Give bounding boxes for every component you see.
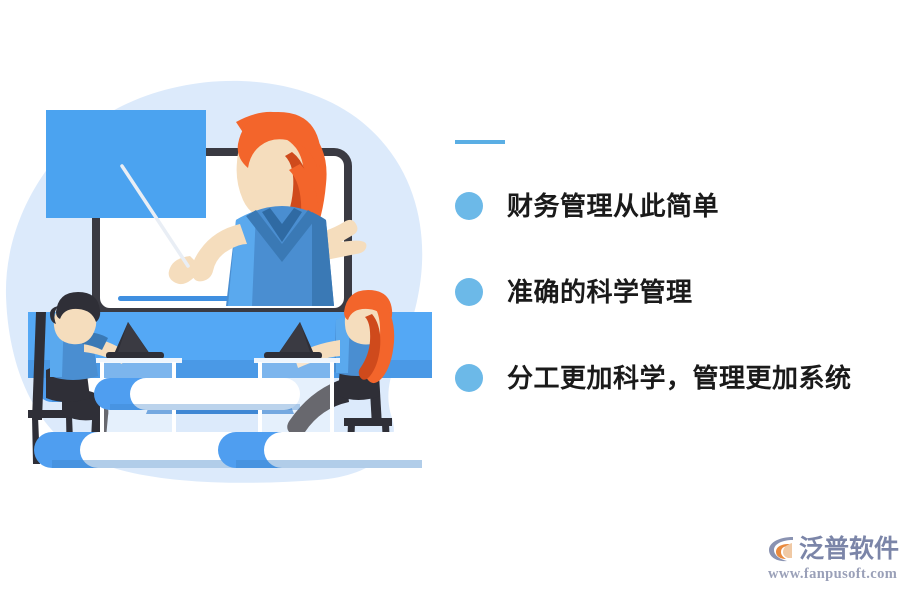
bullet-label: 财务管理从此简单 (507, 193, 719, 219)
bullet-label: 准确的科学管理 (507, 279, 693, 305)
list-item: 财务管理从此简单 (455, 192, 719, 220)
bullet-dot-icon (455, 364, 483, 392)
bullet-dot-icon (455, 192, 483, 220)
online-classroom-illustration (0, 60, 460, 500)
fanpu-swoosh-icon (766, 535, 796, 563)
page-root: 财务管理从此简单 准确的科学管理 分工更加科学，管理更加系统 泛普软件 www.… (0, 0, 900, 600)
feature-bullet-list: 财务管理从此简单 准确的科学管理 分工更加科学，管理更加系统 (455, 130, 895, 420)
logo-lockup: 泛普软件 (766, 532, 899, 566)
logo-brand-text: 泛普软件 (799, 537, 899, 562)
bullet-label: 分工更加科学，管理更加系统 (507, 365, 852, 391)
accent-dash (455, 140, 505, 144)
list-item: 准确的科学管理 (455, 278, 693, 306)
logo-url-text: www.fanpusoft.com (768, 567, 897, 582)
presentation-board (46, 110, 206, 218)
brand-logo: 泛普软件 www.fanpusoft.com (766, 532, 894, 586)
list-item: 分工更加科学，管理更加系统 (455, 364, 852, 392)
bullet-dot-icon (455, 278, 483, 306)
